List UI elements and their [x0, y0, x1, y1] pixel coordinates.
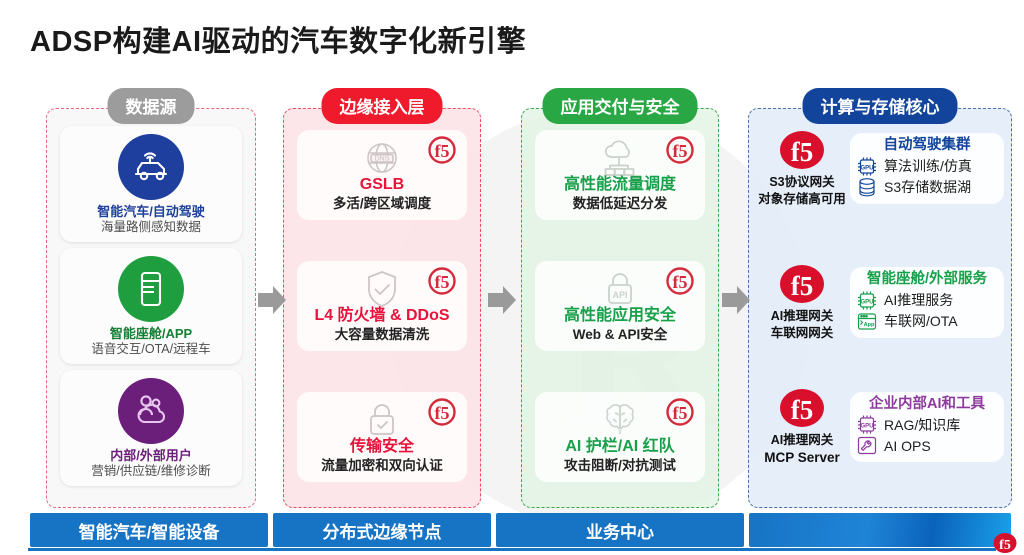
core-panel-heading: 企业内部AI和工具: [856, 396, 998, 413]
svg-text:f5: f5: [673, 272, 688, 292]
browser-app-icon: App: [856, 311, 878, 332]
svg-text:f5: f5: [435, 403, 450, 423]
f5-logo-icon: f5: [665, 267, 695, 297]
feature-card-subtitle: 多活/跨区域调度: [303, 196, 461, 212]
feature-card-subtitle: 流量加密和双向认证: [303, 458, 461, 474]
svg-text:f5: f5: [791, 271, 814, 301]
lock-check-icon: [365, 400, 399, 445]
core-panel-item-label: 算法训练/仿真: [884, 156, 972, 176]
core-panel-item-label: 车联网/OTA: [884, 311, 958, 331]
feature-icon-row: DNS f5: [303, 136, 461, 178]
bottom-bar-accent[interactable]: [749, 513, 1011, 547]
svg-text:GPU: GPU: [860, 299, 873, 305]
bottom-rule: [28, 548, 996, 551]
svg-text:f5: f5: [999, 538, 1011, 553]
svg-text:API: API: [612, 290, 627, 300]
svg-text:f5: f5: [791, 395, 814, 425]
bottom-bar-business-center[interactable]: 业务中心: [496, 513, 744, 547]
cloud-network-icon: [598, 138, 642, 183]
svg-text:f5: f5: [791, 137, 814, 167]
core-panel-item-label: AI OPS: [884, 436, 931, 456]
f5-logo-icon: f5: [427, 267, 457, 297]
source-card-subtitle: 营销/供应链/维修诊断: [64, 464, 238, 480]
flow-arrow-1: [258, 285, 286, 320]
f5-logo-icon: f5: [992, 532, 1018, 554]
users-cloud-icon: [118, 378, 184, 444]
core-row-autonomous-cluster[interactable]: f5 S3协议网关 对象存储高可用 自动驾驶集群 GPU 算法训练/仿真: [756, 130, 1004, 207]
core-row-gateway: f5 S3协议网关 对象存储高可用: [756, 130, 848, 207]
f5-logo-icon: f5: [665, 136, 695, 166]
f5-logo-icon: f5: [427, 398, 457, 428]
svg-text:f5: f5: [673, 403, 688, 423]
feature-icon-row: API f5: [541, 267, 699, 309]
feature-card-subtitle: 数据低延迟分发: [541, 196, 699, 212]
core-panel-item-label: AI推理服务: [884, 290, 953, 310]
feature-icon-row: f5: [541, 136, 699, 178]
core-row-panel: 企业内部AI和工具 GPU RAG/知识库 AI OPS: [850, 392, 1004, 462]
bottom-bar-smart-devices[interactable]: 智能汽车/智能设备: [30, 513, 268, 547]
page-title: ADSP构建AI驱动的汽车数字化新引擎: [30, 18, 526, 60]
source-card-title: 智能座舱/APP: [64, 326, 238, 342]
core-row-label-1: AI推理网关: [756, 308, 848, 325]
gpu-chip-icon: GPU: [856, 290, 878, 311]
core-panel-item-label: RAG/知识库: [884, 415, 960, 435]
core-panel-item[interactable]: App 车联网/OTA: [856, 311, 998, 332]
api-lock-icon: API: [603, 269, 637, 314]
feature-card-app-security[interactable]: API f5 高性能应用安全 Web & API安全: [535, 261, 705, 351]
f5-logo-icon: f5: [775, 130, 829, 174]
core-row-label-2: 对象存储高可用: [756, 191, 848, 208]
dns-globe-icon: DNS: [362, 138, 402, 183]
source-card-smart-car[interactable]: 智能汽车/自动驾驶 海量路侧感知数据: [60, 126, 242, 242]
f5-logo-icon: f5: [775, 264, 829, 308]
svg-text:DNS: DNS: [375, 155, 390, 162]
core-panel-item-label: S3存储数据湖: [884, 177, 971, 197]
brain-icon: [601, 400, 639, 445]
feature-card-subtitle: Web & API安全: [541, 327, 699, 343]
gpu-chip-icon: GPU: [856, 156, 878, 177]
source-card-title: 智能汽车/自动驾驶: [64, 204, 238, 220]
svg-text:GPU: GPU: [860, 424, 873, 430]
feature-card-subtitle: 攻击阻断/对抗测试: [541, 458, 699, 474]
database-icon: [856, 177, 878, 198]
mobile-app-icon: [118, 256, 184, 322]
feature-card-transport-security[interactable]: f5 传输安全 流量加密和双向认证: [297, 392, 467, 482]
feature-card-ai-guardrail[interactable]: f5 AI 护栏/AI 红队 攻击阻断/对抗测试: [535, 392, 705, 482]
column-header-app-delivery: 应用交付与安全: [543, 88, 698, 124]
core-row-gateway: f5 AI推理网关 MCP Server: [756, 388, 848, 466]
column-header-edge-access: 边缘接入层: [322, 88, 443, 124]
svg-text:f5: f5: [435, 141, 450, 161]
core-row-cockpit-services[interactable]: f5 AI推理网关 车联网网关 智能座舱/外部服务 GPU AI推理服务 App: [756, 264, 1004, 341]
f5-logo-icon: f5: [775, 388, 829, 432]
column-header-compute-core: 计算与存储核心: [803, 88, 958, 124]
core-row-label-1: S3协议网关: [756, 174, 848, 191]
feature-card-subtitle: 大容量数据清洗: [303, 327, 461, 343]
feature-icon-row: f5: [541, 398, 699, 440]
core-row-gateway: f5 AI推理网关 车联网网关: [756, 264, 848, 341]
core-row-enterprise-ai[interactable]: f5 AI推理网关 MCP Server 企业内部AI和工具 GPU RAG/知…: [756, 388, 1004, 466]
source-card-title: 内部/外部用户: [64, 448, 238, 464]
source-card-subtitle: 海量路侧感知数据: [64, 220, 238, 236]
core-row-panel: 智能座舱/外部服务 GPU AI推理服务 App 车联网/OTA: [850, 267, 1004, 337]
svg-text:GPU: GPU: [860, 165, 873, 171]
core-panel-item[interactable]: GPU RAG/知识库: [856, 414, 998, 435]
feature-icon-row: f5: [303, 267, 461, 309]
core-row-label-1: AI推理网关: [756, 432, 848, 449]
slide-canvas: R ADSP构建AI驱动的汽车数字化新引擎 数据源 智能汽车/自动驾驶 海量路侧…: [0, 0, 1024, 555]
svg-text:f5: f5: [435, 272, 450, 292]
feature-card-l4-firewall[interactable]: f5 L4 防火墙 & DDoS 大容量数据清洗: [297, 261, 467, 351]
source-card-users[interactable]: 内部/外部用户 营销/供应链/维修诊断: [60, 370, 242, 486]
core-row-label-2: MCP Server: [756, 449, 848, 467]
feature-icon-row: f5: [303, 398, 461, 440]
source-card-cockpit-app[interactable]: 智能座舱/APP 语音交互/OTA/远程车: [60, 248, 242, 364]
feature-card-gslb[interactable]: DNS f5 GSLB 多活/跨区域调度: [297, 130, 467, 220]
core-row-label-2: 车联网网关: [756, 325, 848, 342]
core-panel-item[interactable]: GPU 算法训练/仿真: [856, 156, 998, 177]
f5-logo-icon: f5: [665, 398, 695, 428]
core-panel-item[interactable]: AI OPS: [856, 435, 998, 456]
feature-card-traffic-scheduling[interactable]: f5 高性能流量调度 数据低延迟分发: [535, 130, 705, 220]
connected-car-icon: [118, 134, 184, 200]
core-row-panel: 自动驾驶集群 GPU 算法训练/仿真 S3存储数据湖: [850, 133, 1004, 203]
source-card-subtitle: 语音交互/OTA/远程车: [64, 342, 238, 358]
core-panel-item[interactable]: S3存储数据湖: [856, 177, 998, 198]
flow-arrow-2: [488, 285, 516, 320]
svg-text:App: App: [864, 322, 875, 328]
svg-text:f5: f5: [673, 141, 688, 161]
wrench-icon: [856, 435, 878, 456]
gpu-chip-icon: GPU: [856, 414, 878, 435]
f5-logo-icon: f5: [427, 136, 457, 166]
core-panel-heading: 自动驾驶集群: [856, 137, 998, 154]
core-panel-heading: 智能座舱/外部服务: [856, 271, 998, 288]
flow-arrow-3: [722, 285, 750, 320]
shield-check-icon: [364, 269, 400, 314]
column-header-data-source: 数据源: [108, 88, 195, 124]
core-panel-item[interactable]: GPU AI推理服务: [856, 290, 998, 311]
bottom-bar-edge-nodes[interactable]: 分布式边缘节点: [273, 513, 491, 547]
